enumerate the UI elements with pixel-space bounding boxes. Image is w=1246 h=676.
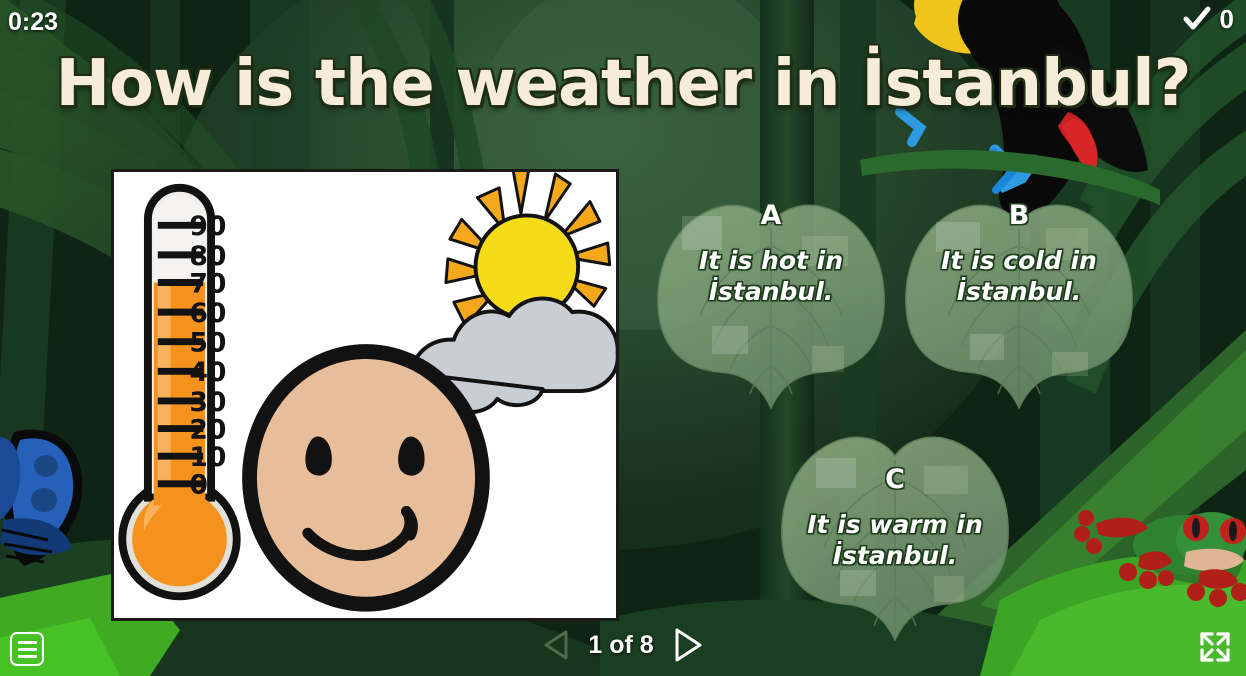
svg-text:50: 50 [189, 328, 226, 359]
answer-letter-b: B [1009, 202, 1030, 229]
quiz-stage: 0:23 0 How is the weather in İstanbul? [0, 0, 1246, 676]
svg-text:60: 60 [189, 298, 226, 329]
svg-text:20: 20 [189, 414, 226, 445]
score-display: 0 [1183, 6, 1234, 32]
answer-text-c: It is warm in İstanbul. [793, 510, 997, 571]
page-indicator: 1 of 8 [588, 633, 653, 658]
svg-text:10: 10 [189, 442, 226, 473]
answer-text-b: It is cold in İstanbul. [917, 246, 1121, 307]
answer-option-a[interactable]: A It is hot in İstanbul. [652, 176, 890, 414]
svg-text:0: 0 [189, 470, 208, 501]
answer-option-c[interactable]: C It is warm in İstanbul. [776, 408, 1014, 646]
timer: 0:23 [8, 8, 58, 37]
svg-text:40: 40 [189, 357, 226, 388]
answer-letter-a: A [761, 202, 782, 229]
answer-option-b[interactable]: B It is cold in İstanbul. [900, 176, 1138, 414]
svg-text:30: 30 [189, 387, 226, 418]
question-image-panel: 90 80 70 60 50 40 30 20 10 0 [111, 169, 619, 621]
svg-text:90: 90 [189, 211, 226, 242]
smiling-face-icon [250, 352, 483, 605]
svg-text:80: 80 [189, 241, 226, 272]
next-slide-button[interactable] [670, 626, 704, 664]
previous-slide-button[interactable] [542, 628, 572, 662]
answer-letter-c: C [885, 466, 905, 493]
svg-text:70: 70 [189, 268, 226, 299]
slide-pager: 1 of 8 [0, 626, 1246, 664]
answer-text-a: It is hot in İstanbul. [669, 246, 873, 307]
butterfly-decoration [0, 430, 82, 566]
page-title: How is the weather in İstanbul? [0, 52, 1246, 116]
check-icon [1183, 6, 1211, 32]
score-value: 0 [1220, 6, 1234, 32]
weather-illustration: 90 80 70 60 50 40 30 20 10 0 [114, 172, 616, 618]
fullscreen-button[interactable] [1196, 628, 1234, 666]
